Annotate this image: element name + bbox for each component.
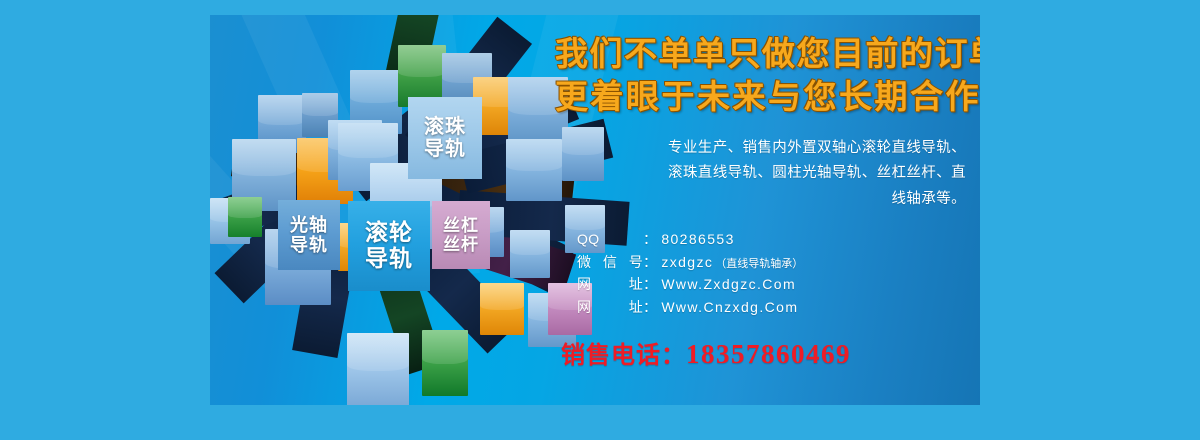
contact-colon: ： [643,251,657,274]
contact-value-qq[interactable]: 80286553 [661,228,735,251]
contact-row-website-2: 网址 ： Www.Cnzxdg.Com [577,296,970,319]
contact-label: 微信号 [577,251,643,274]
contact-note-wechat: （直线导轨轴承） [715,256,803,274]
description: 专业生产、销售内外置双轴心滚轮直线导轨、 滚珠直线导轨、圆柱光轴导轨、丝杠丝杆、… [555,136,970,212]
contact-label: 网址 [577,273,643,296]
product-cube-line1: 滚轮 [365,220,413,246]
decorative-cube [506,139,562,201]
banner-panel: 滚珠 导轨 光轴 导轨 滚轮 导轨 丝杠 丝杆 我们不单单只做您目前的订单 更着… [210,15,980,405]
decorative-cube [510,230,550,278]
sales-phone[interactable]: 销售电话：18357860469 [555,335,970,370]
contact-label: QQ [577,228,643,251]
product-cube-line2: 丝杆 [443,235,479,254]
banner-text-column: 我们不单单只做您目前的订单 更着眼于未来与您长期合作 专业生产、销售内外置双轴心… [555,33,970,393]
decorative-cube [480,283,524,335]
description-line-3: 线轴承等。 [583,187,966,212]
contact-value-website-2[interactable]: Www.Cnzxdg.Com [661,296,798,319]
headline-line-1: 我们不单单只做您目前的订单 [555,33,970,76]
contact-block: QQ ： 80286553 微信号 ： zxdgzc （直线导轨轴承） 网址 ：… [555,228,970,319]
contact-value-wechat[interactable]: zxdgzc [661,251,713,274]
banner-root: 滚珠 导轨 光轴 导轨 滚轮 导轨 丝杠 丝杆 我们不单单只做您目前的订单 更着… [0,0,1200,440]
contact-value-website-1[interactable]: Www.Zxdgzc.Com [661,273,796,296]
headline: 我们不单单只做您目前的订单 更着眼于未来与您长期合作 [555,33,970,119]
contact-row-website-1: 网址 ： Www.Zxdgzc.Com [577,273,970,296]
product-cube-optical-shaft-guide[interactable]: 光轴 导轨 [278,200,340,270]
product-cube-line1: 光轴 [290,215,328,235]
cube-cluster-graphic: 滚珠 导轨 光轴 导轨 滚轮 导轨 丝杠 丝杆 [210,15,610,405]
headline-line-2: 更着眼于未来与您长期合作 [555,76,970,119]
product-cube-ball-guide[interactable]: 滚珠 导轨 [408,97,482,179]
product-cube-line2: 导轨 [365,246,413,272]
decorative-cube [228,197,262,237]
description-line-2: 滚珠直线导轨、圆柱光轴导轨、丝杠丝杆、直 [583,161,966,186]
contact-colon: ： [643,296,657,319]
contact-colon: ： [643,228,657,251]
product-cube-screw-rod[interactable]: 丝杠 丝杆 [432,201,490,269]
contact-label: 网址 [577,296,643,319]
product-cube-line1: 滚珠 [424,116,466,138]
product-cube-roller-guide[interactable]: 滚轮 导轨 [348,201,430,291]
product-cube-line2: 导轨 [290,235,328,255]
description-line-1: 专业生产、销售内外置双轴心滚轮直线导轨、 [583,136,966,161]
decorative-cube [347,333,409,405]
product-cube-line1: 丝杠 [443,216,479,235]
contact-colon: ： [643,273,657,296]
product-cube-line2: 导轨 [424,138,466,160]
sales-phone-number: 18357860469 [686,339,851,369]
contact-row-qq: QQ ： 80286553 [577,228,970,251]
sales-phone-label: 销售电话： [561,342,686,369]
decorative-cube [422,330,468,396]
contact-row-wechat: 微信号 ： zxdgzc （直线导轨轴承） [577,251,970,274]
